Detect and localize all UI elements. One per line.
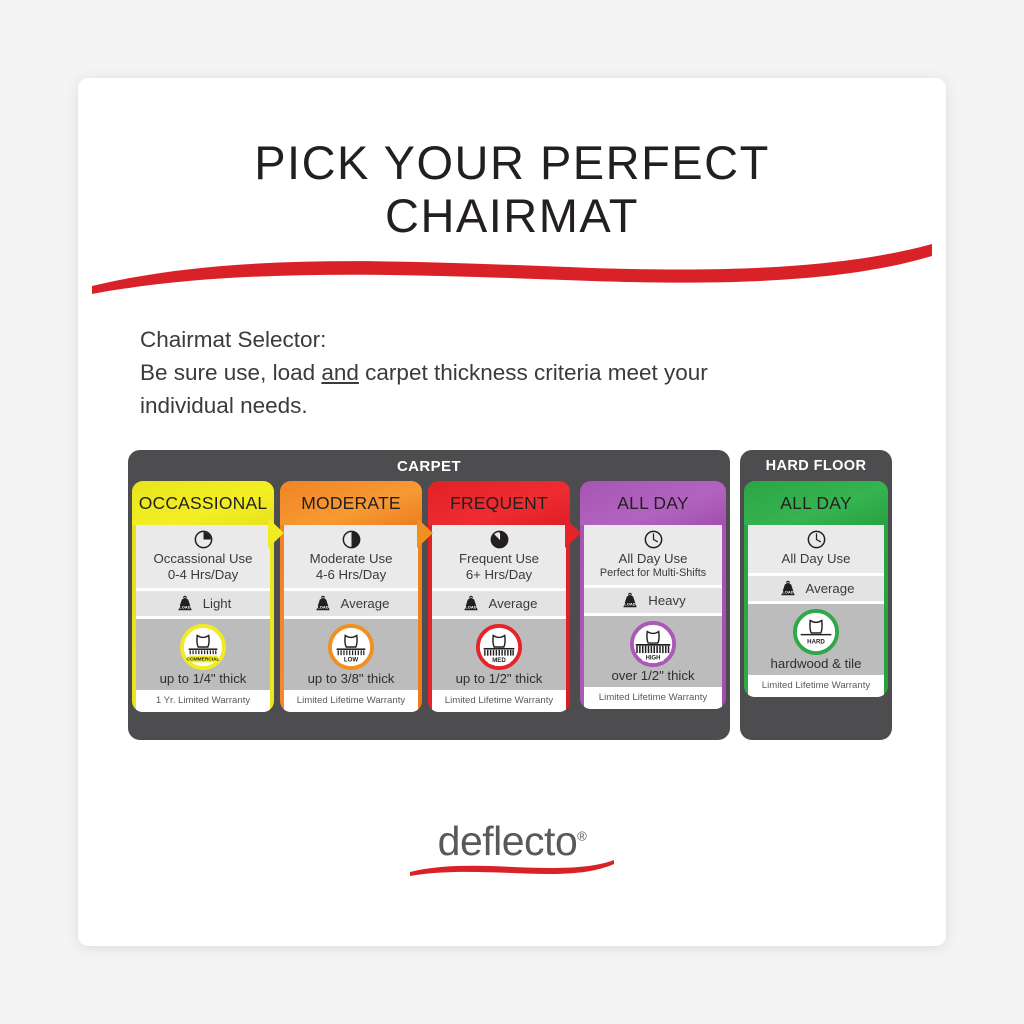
row-thickness-all-day-carpet: HIGH over 1/2" thick — [584, 616, 722, 687]
use-line-2: 6+ Hrs/Day — [434, 567, 564, 583]
carpet-thickness-badge-commercial-icon: COMMERCIAL — [180, 624, 226, 670]
badge-text: MED — [492, 657, 506, 664]
row-thickness-hard-floor: HARD hardwood & tile — [748, 604, 884, 675]
load-weight-icon: LOAD — [313, 594, 333, 613]
load-weight-icon: LOAD — [620, 591, 640, 610]
load-weight-icon: LOAD — [175, 594, 195, 613]
arrow-occassional-to-moderate — [268, 518, 284, 548]
registered-mark: ® — [577, 828, 586, 843]
warranty-moderate: Limited Lifetime Warranty — [284, 690, 418, 712]
column-occassional[interactable]: OCCASSIONAL Occassional Use 0-4 Hrs/Day — [132, 481, 274, 712]
intro-line-1: Chairmat Selector: — [140, 323, 900, 356]
group-carpet-label: CARPET — [128, 458, 730, 475]
row-use-hard-floor: All Day Use — [748, 525, 884, 573]
carpet-thickness-badge-low-icon: LOW — [328, 624, 374, 670]
column-all-day-hard-floor[interactable]: ALL DAY All Day Use — [744, 481, 888, 697]
badge-text: HIGH — [646, 656, 661, 662]
warranty-frequent: Limited Lifetime Warranty — [432, 690, 566, 712]
intro-emphasis-and: and — [321, 360, 359, 385]
warranty-occassional: 1 Yr. Limited Warranty — [136, 690, 270, 712]
svg-text:LOAD: LOAD — [179, 605, 190, 610]
group-hard-floor: HARD FLOOR ALL DAY All Day Use — [740, 450, 892, 740]
column-occassional-header: OCCASSIONAL — [132, 481, 274, 525]
carpet-thickness-badge-high-icon: HIGH — [630, 621, 676, 667]
logo-text: deflecto — [438, 818, 578, 864]
thickness-label: up to 1/4" thick — [136, 671, 270, 686]
load-weight-icon: LOAD — [461, 594, 481, 613]
row-load-frequent: LOAD Average — [432, 591, 566, 616]
row-use-occassional: Occassional Use 0-4 Hrs/Day — [136, 525, 270, 588]
clock-three-quarter-icon — [489, 529, 510, 550]
clock-quarter-icon — [193, 529, 214, 550]
load-label: Average — [806, 581, 855, 596]
use-line-1: All Day Use — [586, 551, 720, 567]
clock-full-icon — [806, 529, 827, 550]
row-use-moderate: Moderate Use 4-6 Hrs/Day — [284, 525, 418, 588]
intro-line-2: Be sure use, load and carpet thickness c… — [140, 356, 900, 389]
badge-text: HARD — [807, 638, 825, 645]
deflecto-logo: deflecto® — [78, 818, 946, 877]
clock-full-icon — [643, 529, 664, 550]
page-title-line2: CHAIRMAT — [78, 189, 946, 242]
red-swoosh-divider — [92, 238, 932, 296]
column-moderate[interactable]: MODERATE Moderate Use 4-6 Hrs/Day — [280, 481, 422, 712]
load-label: Heavy — [648, 593, 685, 608]
column-frequent[interactable]: FREQUENT Frequent Use 6+ Hrs/Day — [428, 481, 570, 712]
badge-text: LOW — [344, 657, 359, 664]
column-all-day-hard-floor-body: All Day Use LOAD Average — [748, 525, 884, 697]
use-line-2: 0-4 Hrs/Day — [138, 567, 268, 583]
use-line-1: Frequent Use — [434, 551, 564, 567]
intro-line-2b: carpet thickness criteria meet your — [359, 360, 708, 385]
arrow-moderate-to-frequent — [417, 518, 433, 548]
row-load-all-day-carpet: LOAD Heavy — [584, 588, 722, 613]
row-thickness-occassional: COMMERCIAL up to 1/4" thick — [136, 619, 270, 690]
group-carpet: CARPET OCCASSIONAL Occassional Use 0-4 H… — [128, 450, 730, 740]
svg-text:LOAD: LOAD — [317, 605, 328, 610]
intro-line-3: individual needs. — [140, 389, 900, 422]
thickness-label: over 1/2" thick — [584, 668, 722, 683]
use-line-2: 4-6 Hrs/Day — [286, 567, 416, 583]
page-title: PICK YOUR PERFECT CHAIRMAT — [78, 136, 946, 242]
badge-text: COMMERCIAL — [187, 657, 220, 663]
load-label: Light — [203, 596, 232, 611]
row-thickness-frequent: MED up to 1/2" thick — [432, 619, 566, 690]
intro-line-2a: Be sure use, load — [140, 360, 321, 385]
column-moderate-header: MODERATE — [280, 481, 422, 525]
clock-half-icon — [341, 529, 362, 550]
row-load-hard-floor: LOAD Average — [748, 576, 884, 601]
warranty-hard-floor: Limited Lifetime Warranty — [748, 675, 884, 697]
svg-text:LOAD: LOAD — [625, 602, 636, 607]
column-moderate-body: Moderate Use 4-6 Hrs/Day LOAD Average — [284, 525, 418, 712]
load-label: Average — [489, 596, 538, 611]
thickness-label: up to 1/2" thick — [432, 671, 566, 686]
svg-text:LOAD: LOAD — [465, 605, 476, 610]
hard-floor-badge-hard-icon: HARD — [793, 609, 839, 655]
arrow-frequent-to-all-day — [565, 518, 581, 548]
page-background: PICK YOUR PERFECT CHAIRMAT Chairmat Sele… — [0, 0, 1024, 1024]
load-weight-icon: LOAD — [778, 579, 798, 598]
chairmat-selector-chart: CARPET OCCASSIONAL Occassional Use 0-4 H… — [128, 450, 900, 750]
group-hard-floor-label: HARD FLOOR — [740, 458, 892, 474]
row-use-frequent: Frequent Use 6+ Hrs/Day — [432, 525, 566, 588]
use-line-1: All Day Use — [750, 551, 882, 567]
use-line-1: Moderate Use — [286, 551, 416, 567]
use-line-2: Perfect for Multi-Shifts — [586, 567, 720, 580]
row-use-all-day-carpet: All Day Use Perfect for Multi-Shifts — [584, 525, 722, 585]
row-load-moderate: LOAD Average — [284, 591, 418, 616]
column-all-day-carpet-header: ALL DAY — [580, 481, 726, 525]
intro-text: Chairmat Selector: Be sure use, load and… — [140, 323, 900, 422]
column-all-day-carpet-body: All Day Use Perfect for Multi-Shifts LOA… — [584, 525, 722, 709]
column-frequent-header: FREQUENT — [428, 481, 570, 525]
svg-text:LOAD: LOAD — [782, 589, 793, 594]
carpet-thickness-badge-med-icon: MED — [476, 624, 522, 670]
page-title-line1: PICK YOUR PERFECT — [78, 136, 946, 189]
column-occassional-body: Occassional Use 0-4 Hrs/Day LOAD Light — [136, 525, 270, 712]
use-line-1: Occassional Use — [138, 551, 268, 567]
column-frequent-body: Frequent Use 6+ Hrs/Day LOAD Average — [432, 525, 566, 712]
warranty-all-day-carpet: Limited Lifetime Warranty — [584, 687, 722, 709]
row-load-occassional: LOAD Light — [136, 591, 270, 616]
column-all-day-carpet[interactable]: ALL DAY All Day Use Perfect for Multi-Sh… — [580, 481, 726, 709]
logo-wordmark: deflecto® — [438, 818, 587, 865]
thickness-label: up to 3/8" thick — [284, 671, 418, 686]
thickness-label: hardwood & tile — [748, 656, 884, 671]
column-all-day-hard-floor-header: ALL DAY — [744, 481, 888, 525]
load-label: Average — [341, 596, 390, 611]
content-card: PICK YOUR PERFECT CHAIRMAT Chairmat Sele… — [78, 78, 946, 946]
row-thickness-moderate: LOW up to 3/8" thick — [284, 619, 418, 690]
